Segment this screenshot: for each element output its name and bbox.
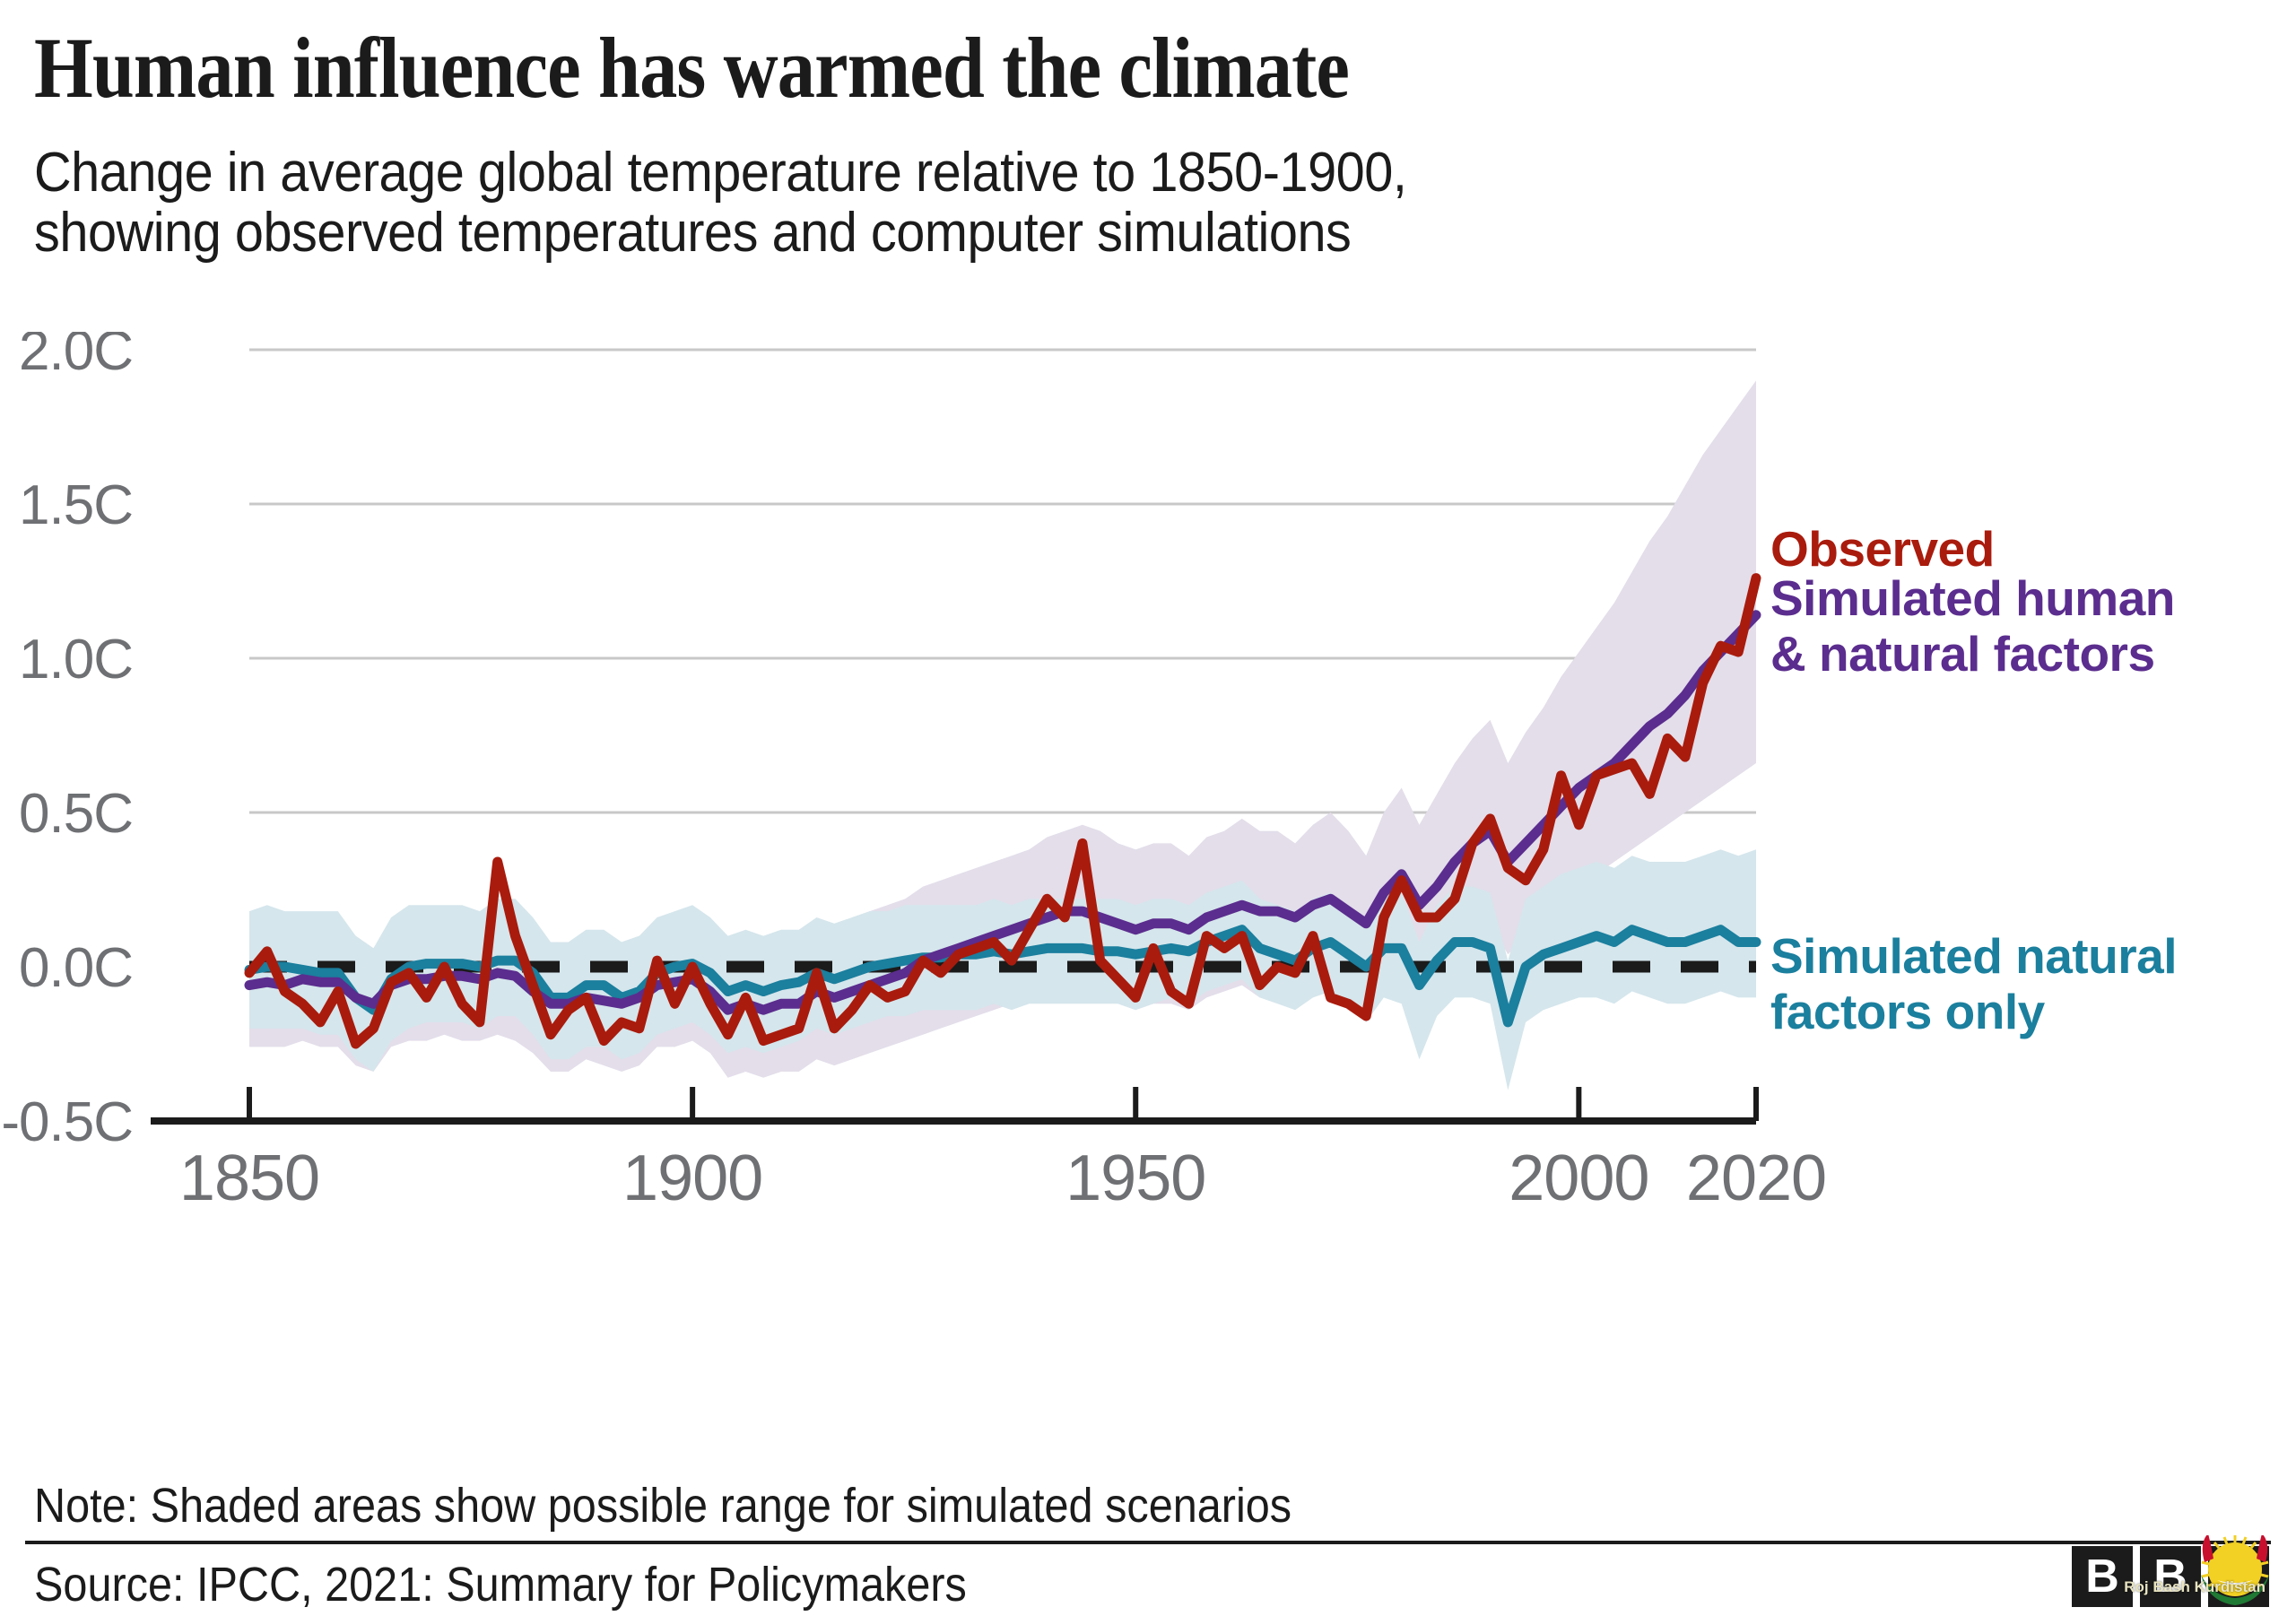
x-axis-tick-label: 1900 xyxy=(622,1142,762,1214)
bbc-logo-letter-2: B xyxy=(2140,1546,2201,1607)
source-credit: Source: IPCC, 2021: Summary for Policyma… xyxy=(34,1557,967,1612)
y-axis-tick-label: 1.5C xyxy=(19,474,133,536)
y-axis-tick-label: 0.0C xyxy=(19,937,133,999)
legend-label-observed: Observed xyxy=(1770,521,1995,577)
infographic-root: Human influence has warmed the climate C… xyxy=(0,0,2296,1614)
watermark-label: Roj Bash Kurdistan xyxy=(2124,1578,2266,1596)
page-subtitle: Change in average global temperature rel… xyxy=(34,143,1406,264)
bbc-logo: B B C xyxy=(2072,1546,2269,1607)
legend-label-simulated-natural: Simulated naturalfactors only xyxy=(1770,928,2177,1039)
x-axis-tick-label: 1950 xyxy=(1065,1142,1205,1214)
y-axis-tick-label: 2.0C xyxy=(19,332,133,382)
x-axis-tick-label: 2000 xyxy=(1509,1142,1648,1214)
y-axis-tick-label: 0.5C xyxy=(19,783,133,845)
chart-note: Note: Shaded areas show possible range f… xyxy=(34,1478,1291,1533)
y-axis-tick-label: -0.5C xyxy=(1,1091,133,1153)
x-axis-tick-label: 2020 xyxy=(1686,1142,1826,1214)
bbc-logo-letter-3: C xyxy=(2208,1546,2269,1607)
bbc-logo-letter-1: B xyxy=(2072,1546,2133,1607)
footer-divider xyxy=(25,1541,2271,1544)
y-axis-tick-label: 1.0C xyxy=(19,629,133,691)
x-axis-tick-label: 1850 xyxy=(179,1142,319,1214)
page-title: Human influence has warmed the climate xyxy=(34,25,1349,111)
temperature-line-chart: 18501900195020002020-0.5C0.0C0.5C1.0C1.5… xyxy=(0,332,2296,1282)
chart-container: 18501900195020002020-0.5C0.0C0.5C1.0C1.5… xyxy=(0,332,2296,1282)
legend-label-simulated-human: Simulated human& natural factors xyxy=(1770,570,2175,682)
